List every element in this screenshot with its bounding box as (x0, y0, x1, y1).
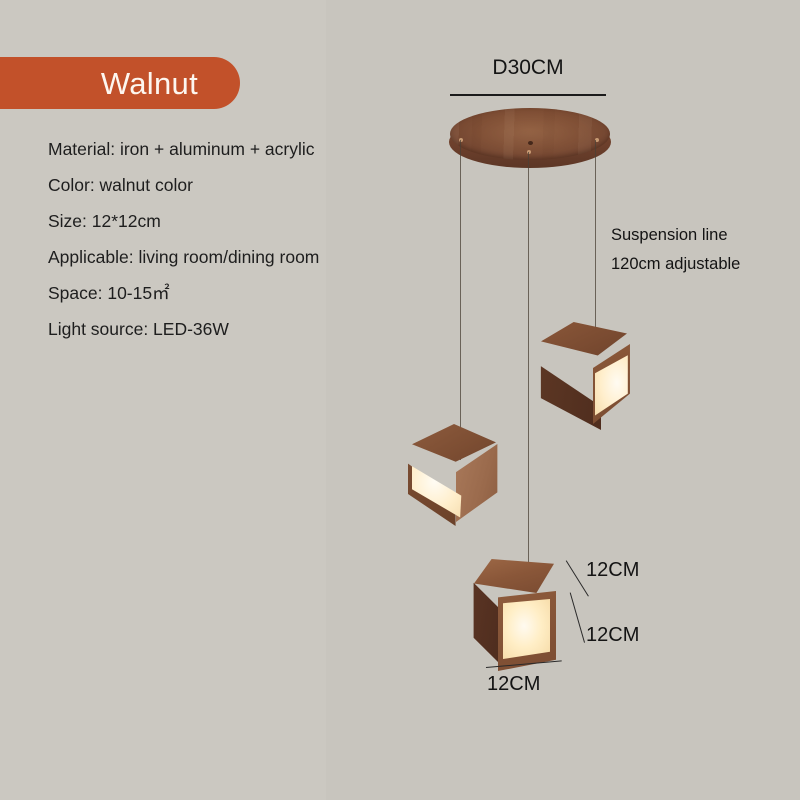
spec-light-source: Light source: LED-36W (48, 321, 378, 339)
dimension-tick-height (569, 593, 585, 643)
cube-light-panel (503, 599, 550, 659)
background-panel (0, 0, 326, 800)
canopy-diameter-label: D30CM (450, 57, 606, 78)
dimension-label-depth: 12CM (586, 560, 639, 580)
dimension-label-height: 12CM (586, 625, 639, 645)
dimension-label-width: 12CM (487, 674, 540, 694)
variant-badge-label: Walnut (101, 68, 198, 99)
suspension-cord-center (528, 152, 529, 580)
suspension-line-label-2: 120cm adjustable (611, 256, 740, 273)
spec-space: Space: 10-15㎡ (48, 285, 378, 303)
spec-size: Size: 12*12cm (48, 213, 378, 231)
spec-list: Material: iron + aluminum + acrylic Colo… (48, 141, 378, 357)
variant-badge: Walnut (0, 57, 240, 109)
product-image-stage: Walnut Material: iron + aluminum + acryl… (0, 0, 800, 800)
suspension-line-label-1: Suspension line (611, 227, 728, 244)
canopy-diameter-line (450, 94, 606, 96)
canopy-center-screw (528, 141, 533, 145)
suspension-cord-left (460, 140, 461, 460)
spec-material: Material: iron + aluminum + acrylic (48, 141, 378, 159)
spec-color: Color: walnut color (48, 177, 378, 195)
spec-applicable: Applicable: living room/dining room (48, 249, 378, 267)
suspension-cord-right (595, 140, 596, 328)
ceiling-canopy (449, 108, 611, 172)
cube-top-face (474, 559, 554, 593)
cube-side-face (539, 346, 601, 430)
